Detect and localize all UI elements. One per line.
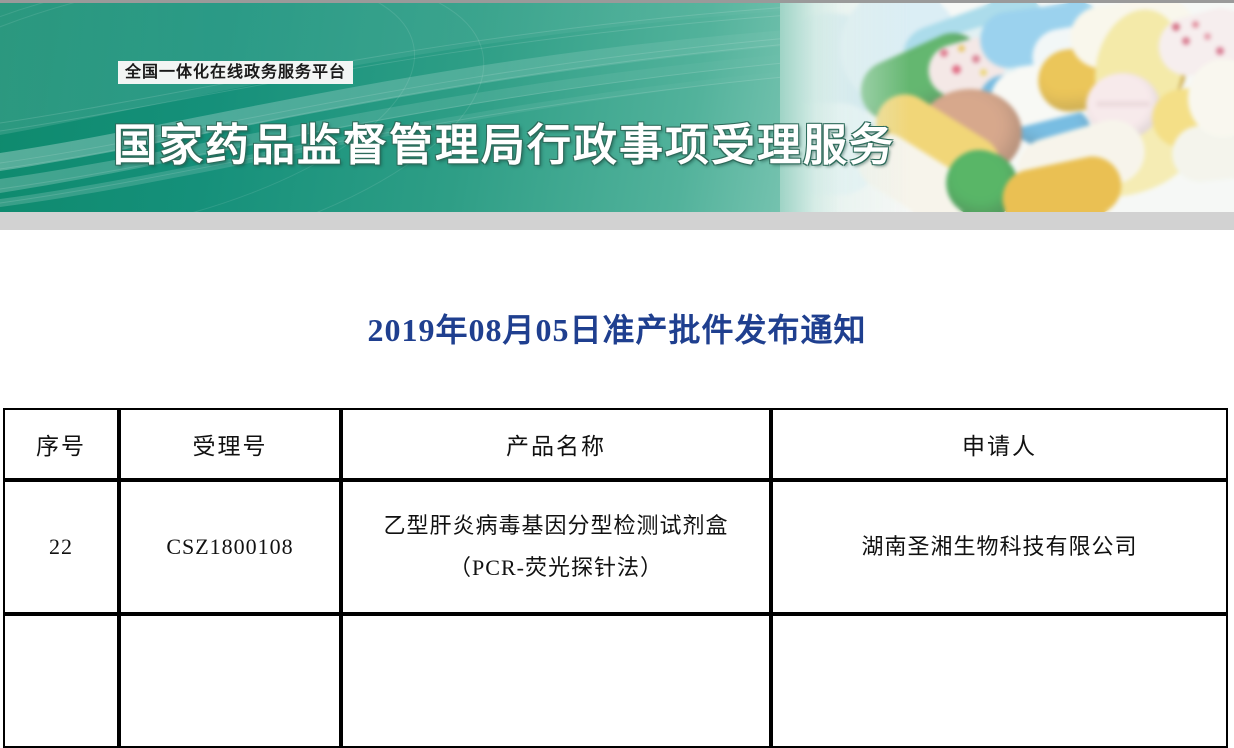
- column-header-applicant: 申请人: [771, 408, 1228, 480]
- column-header-product: 产品名称: [341, 408, 771, 480]
- cell-product: 乙型肝炎病毒基因分型检测试剂盒 （PCR-荧光探针法）: [341, 480, 771, 614]
- notice-table: 序号 受理号 产品名称 申请人 22 CSZ1800108 乙型肝炎病毒基因分型…: [3, 408, 1228, 748]
- column-header-seq: 序号: [3, 408, 119, 480]
- table-header-row: 序号 受理号 产品名称 申请人: [3, 408, 1228, 480]
- product-name-line2: （PCR-荧光探针法）: [344, 547, 768, 589]
- page-title: 2019年08月05日准产批件发布通知: [0, 230, 1234, 351]
- pills-photo: [780, 3, 1234, 212]
- cell-seq-next: [3, 614, 119, 748]
- cell-product-next: [341, 614, 771, 748]
- table-row: 22 CSZ1800108 乙型肝炎病毒基因分型检测试剂盒 （PCR-荧光探针法…: [3, 480, 1228, 614]
- banner-title: 国家药品监督管理局行政事项受理服务: [113, 109, 895, 173]
- column-header-accept-no: 受理号: [119, 408, 341, 480]
- cell-accept-no: CSZ1800108: [119, 480, 341, 614]
- notice-table-wrapper: 序号 受理号 产品名称 申请人 22 CSZ1800108 乙型肝炎病毒基因分型…: [0, 408, 1234, 748]
- cell-applicant-next: [771, 614, 1228, 748]
- site-banner: 全国一体化在线政务服务平台 国家药品监督管理局行政事项受理服务: [0, 3, 1234, 212]
- table-row-next-partial: [3, 614, 1228, 748]
- banner-bottom-gray-band: [0, 212, 1234, 230]
- platform-tag: 全国一体化在线政务服务平台: [118, 61, 353, 84]
- main-content: 2019年08月05日准产批件发布通知 序号 受理号 产品名称 申请人 22 C…: [0, 230, 1234, 748]
- product-name-line1: 乙型肝炎病毒基因分型检测试剂盒: [383, 513, 728, 538]
- cell-applicant: 湖南圣湘生物科技有限公司: [771, 480, 1228, 614]
- cell-seq: 22: [3, 480, 119, 614]
- cell-accept-no-next: [119, 614, 341, 748]
